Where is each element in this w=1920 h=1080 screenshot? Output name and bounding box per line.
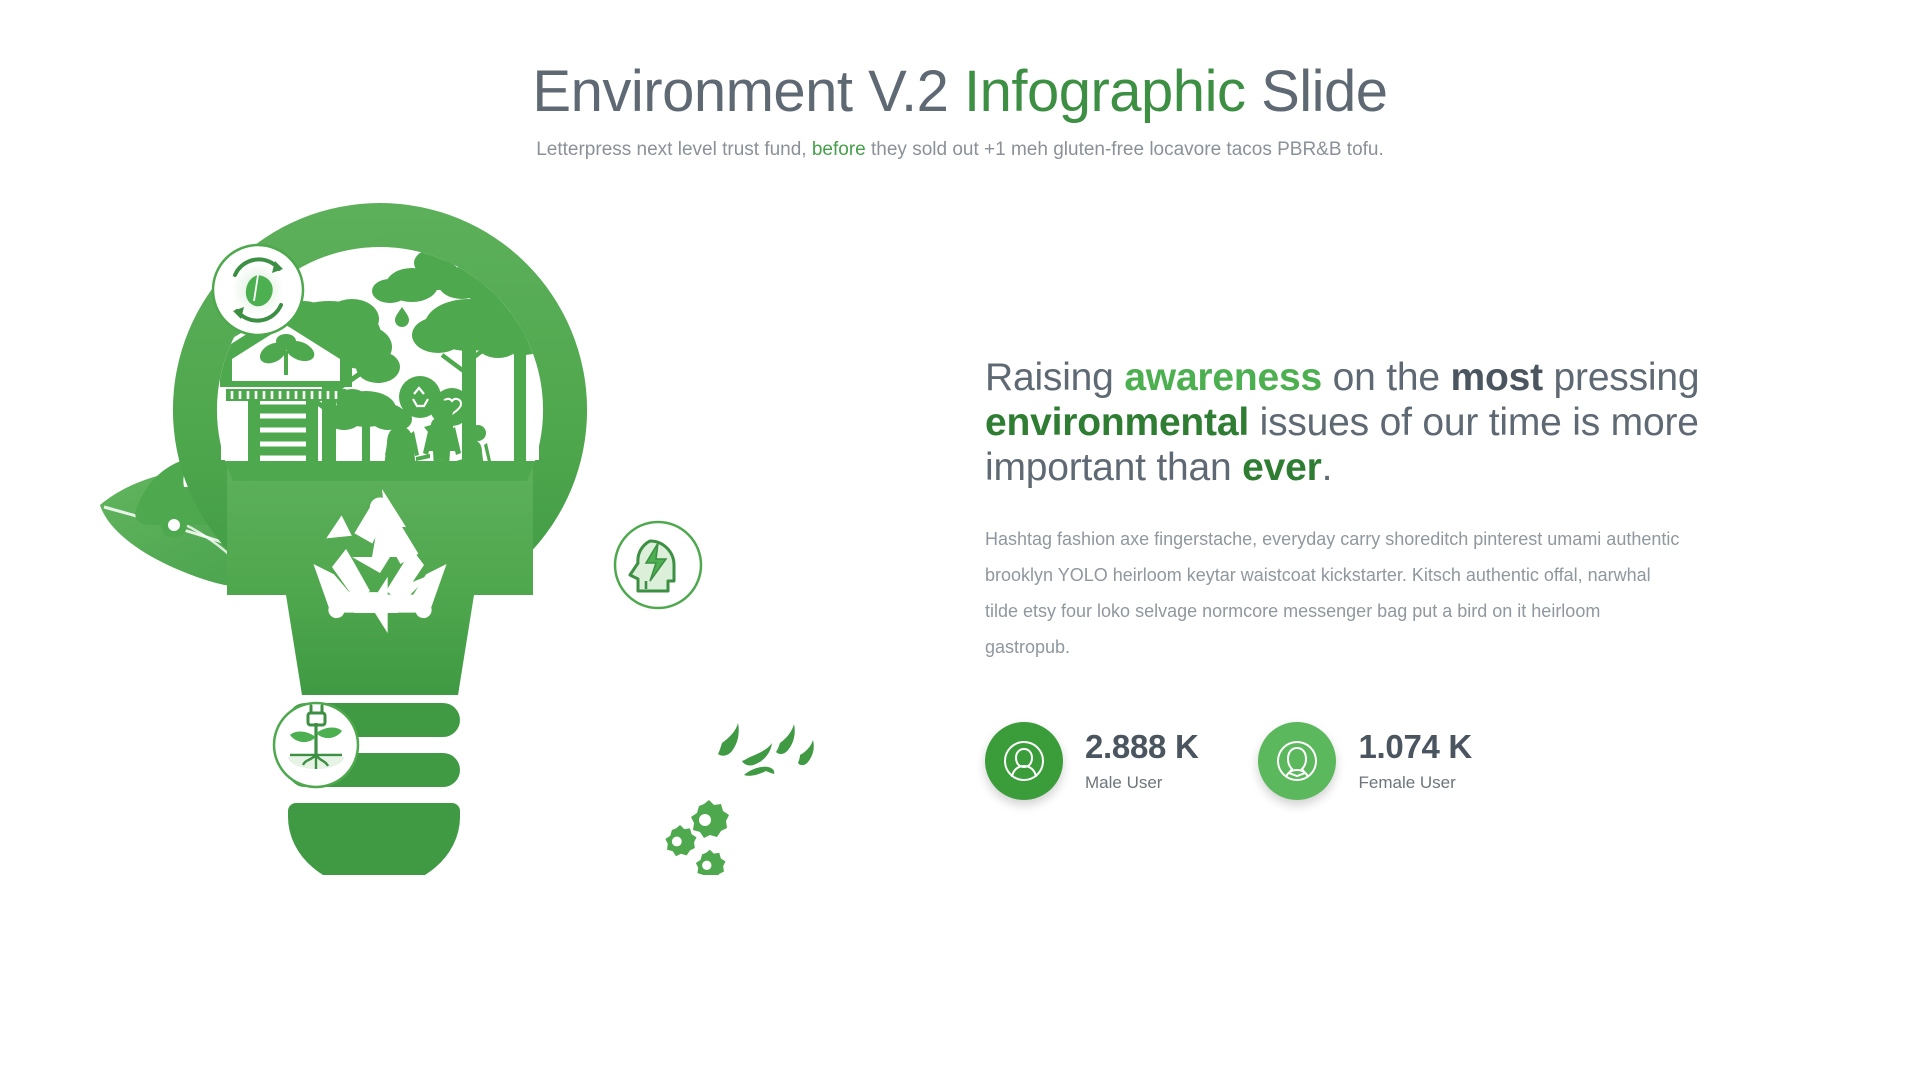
- female-user-avatar: [1258, 722, 1336, 800]
- male-user-icon: [1002, 739, 1046, 783]
- male-user-avatar: [985, 722, 1063, 800]
- female-user-text: 1.074 K Female User: [1358, 730, 1471, 793]
- title-part-1: Environment V.2: [532, 59, 964, 124]
- body-paragraph: Hashtag fashion axe fingerstache, everyd…: [985, 521, 1685, 665]
- title-part-2: Slide: [1245, 59, 1387, 124]
- lead-seg-5: pressing: [1543, 356, 1699, 399]
- subtitle-part-1: Letterpress next level trust fund,: [536, 139, 812, 160]
- lead-seg-1: Raising: [985, 356, 1124, 399]
- lead-highlight-awareness: awareness: [1124, 356, 1322, 399]
- female-user-icon: [1275, 739, 1319, 783]
- lead-highlight-ever: ever: [1242, 446, 1321, 489]
- male-user-text: 2.888 K Male User: [1085, 730, 1198, 793]
- stat-female-user: 1.074 K Female User: [1258, 722, 1471, 800]
- male-user-label: Male User: [1085, 773, 1198, 793]
- eco-lightbulb-illustration: [90, 175, 890, 875]
- brain-energy-badge: [615, 522, 701, 608]
- page-title: Environment V.2 Infographic Slide: [0, 60, 1920, 125]
- content-panel: Raising awareness on the most pressing e…: [985, 355, 1825, 665]
- plant-plug-badge: [274, 703, 358, 787]
- stats-row: 2.888 K Male User 1.074 K Female User: [985, 722, 1472, 800]
- gear-flowers-icon: [665, 800, 729, 875]
- header: Environment V.2 Infographic Slide Letter…: [0, 60, 1920, 161]
- stat-male-user: 2.888 K Male User: [985, 722, 1198, 800]
- subtitle-highlight: before: [812, 139, 866, 160]
- female-user-value: 1.074 K: [1358, 730, 1471, 763]
- lead-seg-3: on the: [1322, 356, 1451, 399]
- male-user-value: 2.888 K: [1085, 730, 1198, 763]
- female-user-label: Female User: [1358, 773, 1471, 793]
- lead-seg-9: .: [1322, 446, 1333, 489]
- flying-birds-icon: [718, 723, 814, 776]
- lead-emphasis-most: most: [1451, 356, 1543, 399]
- subtitle-part-2: they sold out +1 meh gluten-free locavor…: [866, 139, 1384, 160]
- page-subtitle: Letterpress next level trust fund, befor…: [0, 139, 1920, 161]
- infographic-slide: Environment V.2 Infographic Slide Letter…: [0, 0, 1920, 1080]
- lead-statement: Raising awareness on the most pressing e…: [985, 355, 1825, 491]
- recycle-leaf-badge: [213, 245, 303, 335]
- title-highlight: Infographic: [964, 59, 1245, 124]
- lead-highlight-environmental: environmental: [985, 401, 1249, 444]
